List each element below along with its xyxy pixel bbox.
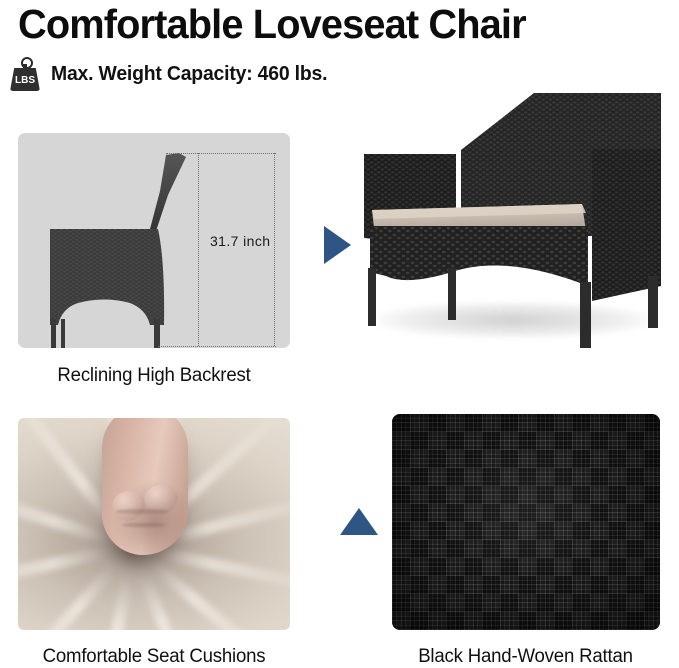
dimension-label: 31.7 inch <box>210 233 270 249</box>
dimension-line-top <box>166 153 276 154</box>
fist-knuckle <box>112 491 146 521</box>
loveseat-illustration <box>356 86 666 348</box>
chair-rear-leg <box>154 319 160 348</box>
cushion-photo <box>18 418 290 630</box>
chair-side-body <box>50 229 164 325</box>
loveseat-leg-front-left <box>368 268 376 326</box>
arrow-right-icon <box>324 226 351 264</box>
fist-crease <box>122 523 166 527</box>
page-title: Comfortable Loveseat Chair <box>18 0 639 50</box>
weight-icon: LBS <box>8 56 42 92</box>
weight-icon-label: LBS <box>15 75 35 86</box>
panel-reclining-backrest: 31.7 inch <box>18 133 290 348</box>
fist-pressing-cushion <box>102 418 188 555</box>
chair-front-leg-2 <box>61 319 65 348</box>
loveseat-front-skirt <box>370 226 588 286</box>
panel-seat-cushion <box>18 418 290 630</box>
panel-rattan-texture <box>392 414 660 630</box>
caption-rattan: Black Hand-Woven Rattan <box>375 646 676 668</box>
caption-reclining-backrest: Reclining High Backrest <box>3 365 305 387</box>
weight-icon-body: LBS <box>10 68 40 91</box>
loveseat-leg-front-right <box>580 282 591 348</box>
loveseat-leg-rear-right <box>648 276 658 328</box>
arrow-up-icon <box>340 508 378 535</box>
dimension-line-vertical <box>198 153 199 346</box>
caption-seat-cushion: Comfortable Seat Cushions <box>3 646 305 668</box>
weight-capacity-row: LBS Max. Weight Capacity: 460 lbs. <box>8 55 336 93</box>
loveseat-leg-front-mid <box>448 268 456 320</box>
dimension-line-vertical-right <box>274 153 275 346</box>
chair-front-leg <box>51 319 56 348</box>
panel-loveseat-product <box>356 86 666 348</box>
rattan-vignette <box>392 414 660 630</box>
weight-capacity-text: Max. Weight Capacity: 460 lbs. <box>51 63 327 86</box>
chair-backrest-shape <box>150 153 186 231</box>
rattan-weave-photo <box>392 414 660 630</box>
dimension-line-bottom <box>158 346 276 347</box>
